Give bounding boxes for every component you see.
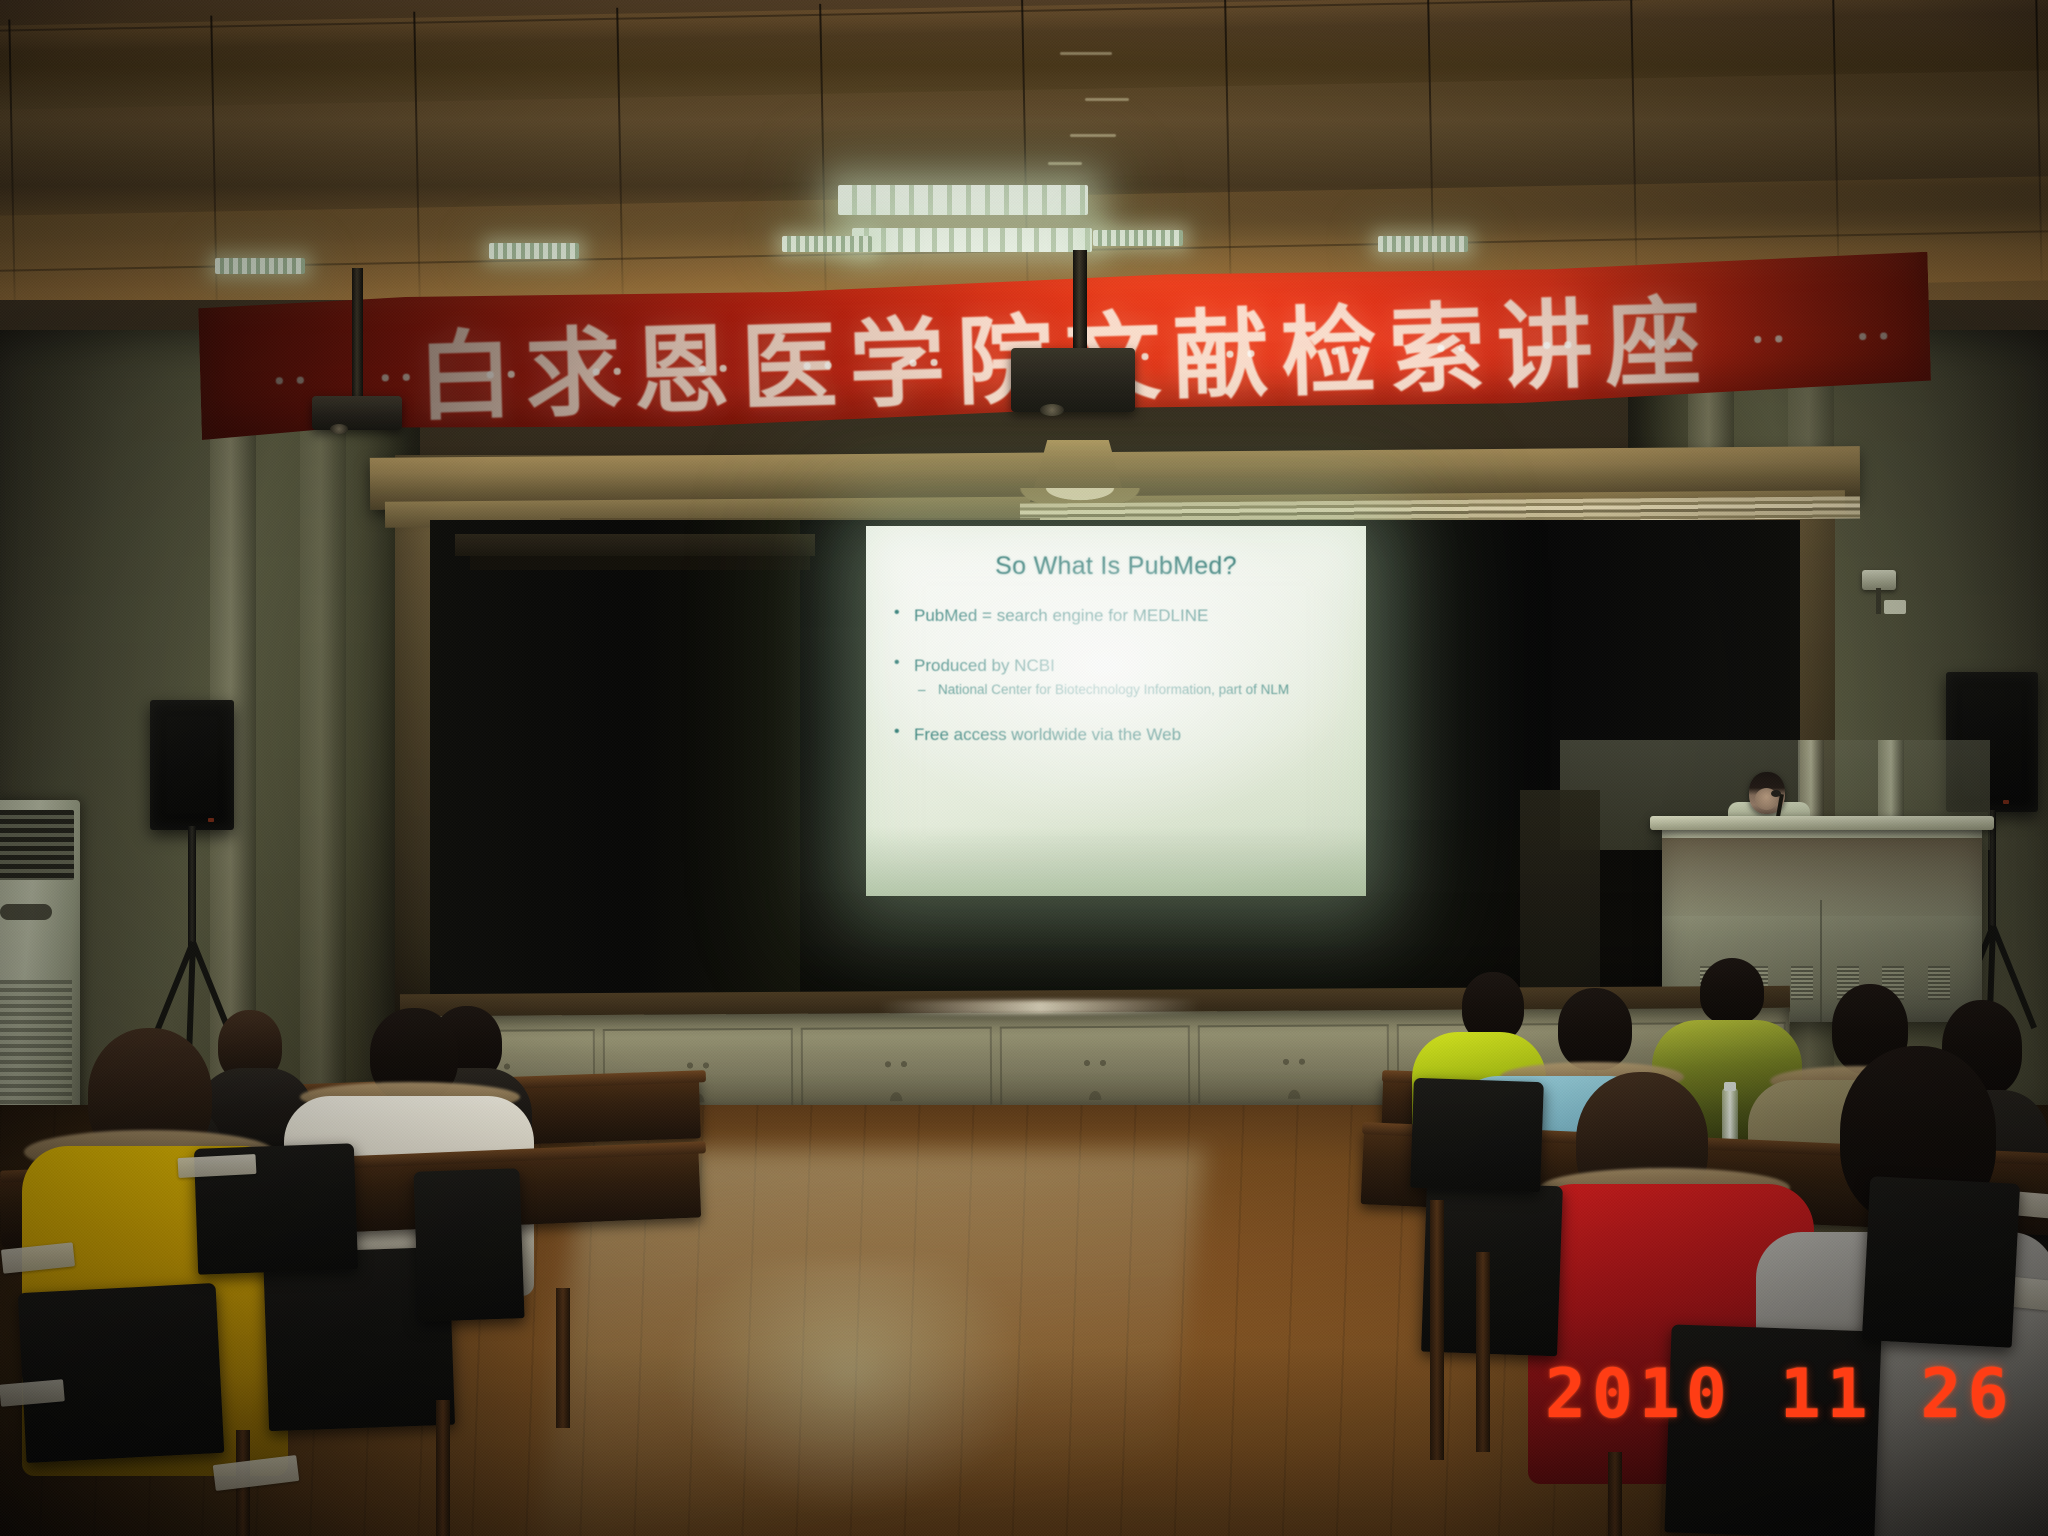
ceiling-light-fixture-center bbox=[838, 185, 1088, 215]
water-bottle-cap bbox=[1724, 1082, 1736, 1091]
ceiling-light-fixture-2 bbox=[489, 243, 579, 259]
ceiling bbox=[0, 0, 2048, 300]
ceiling-light-fixture-center-lower bbox=[852, 228, 1092, 252]
slide-body: PubMed = search engine for MEDLINE Produ… bbox=[890, 606, 1352, 745]
podium-top-edge bbox=[1650, 816, 1994, 830]
lecture-hall-photo: 白求恩医学院文献检索讲座 So What Is PubMed? PubMed =… bbox=[0, 0, 2048, 1536]
chair-leg bbox=[1476, 1252, 1490, 1452]
ceiling-light-fixture-4 bbox=[1093, 230, 1183, 246]
seat-back bbox=[18, 1283, 225, 1463]
ceiling-light-fixture-5 bbox=[1378, 236, 1468, 252]
chair-leg bbox=[436, 1400, 450, 1536]
seat-back bbox=[1862, 1176, 2020, 1348]
slide-title: So What Is PubMed? bbox=[866, 552, 1366, 581]
slide-bullet-2: Produced by NCBI bbox=[890, 656, 1352, 676]
slide-sub-bullet: National Center for Biotechnology Inform… bbox=[890, 682, 1352, 699]
microphone-head bbox=[1771, 790, 1781, 797]
slide-bullet-1: PubMed = search engine for MEDLINE bbox=[890, 606, 1352, 626]
ac-grille bbox=[0, 810, 74, 880]
air-conditioner bbox=[0, 800, 80, 1130]
apron-panel bbox=[801, 1027, 992, 1108]
chair-leg bbox=[556, 1288, 570, 1428]
apron-panel bbox=[1198, 1024, 1389, 1105]
ceiling-light-fixture-3 bbox=[782, 236, 872, 252]
curtain-valance-lower bbox=[470, 556, 810, 570]
seat-back bbox=[1410, 1078, 1544, 1192]
camera-date-stamp: 2010 11 26 bbox=[1545, 1355, 2014, 1434]
slide-bullet-3: Free access worldwide via the Web bbox=[890, 725, 1352, 745]
handout-paper bbox=[178, 1154, 257, 1178]
projection-screen: So What Is PubMed? PubMed = search engin… bbox=[866, 526, 1366, 896]
seat-back bbox=[413, 1168, 524, 1322]
ceiling-light-fixture-1 bbox=[215, 258, 305, 274]
apron-panel bbox=[999, 1025, 1190, 1106]
water-bottle bbox=[1722, 1088, 1738, 1144]
chair-leg bbox=[1608, 1452, 1622, 1536]
stage-equipment-rack bbox=[1520, 790, 1600, 990]
chair-leg bbox=[1430, 1200, 1444, 1460]
stage-curtain-left bbox=[430, 520, 800, 1000]
curtain-valance bbox=[455, 534, 815, 556]
ac-logo bbox=[0, 904, 52, 920]
